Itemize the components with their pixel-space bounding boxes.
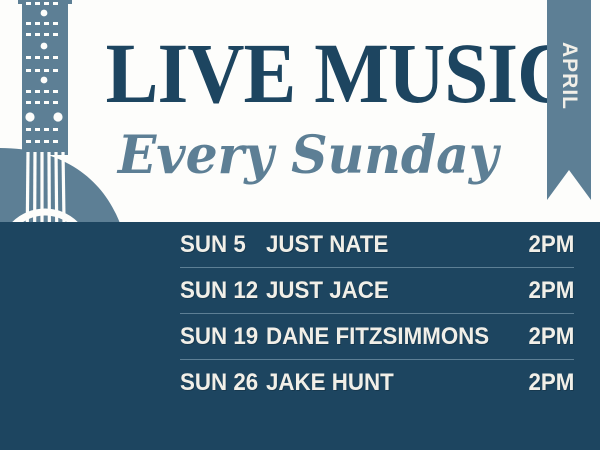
row-time: 2PM (528, 323, 574, 351)
row-act: JUST JACE (266, 277, 507, 305)
row-date: SUN 19 (180, 323, 260, 351)
row-act: JAKE HUNT (266, 369, 507, 397)
poster-header: LIVE MUSIC Every Sunday (0, 0, 600, 222)
row-act: DANE FITZSIMMONS (266, 323, 507, 351)
live-music-poster: LIVE MUSIC Every Sunday APRIL SUN 5 JUST… (0, 0, 600, 450)
page-subtitle: Every Sunday (95, 124, 522, 188)
table-row: SUN 19 DANE FITZSIMMONS 2PM (180, 313, 574, 359)
month-ribbon: APRIL (547, 0, 591, 200)
row-time: 2PM (528, 231, 574, 259)
table-row: SUN 26 JAKE HUNT 2PM (180, 359, 574, 405)
row-date: SUN 12 (180, 277, 260, 305)
table-row: SUN 5 JUST NATE 2PM (180, 222, 574, 267)
row-date: SUN 5 (180, 231, 260, 259)
table-row: SUN 12 JUST JACE 2PM (180, 267, 574, 313)
row-time: 2PM (528, 369, 574, 397)
ribbon-point-icon (547, 170, 591, 200)
row-time: 2PM (528, 277, 574, 305)
page-title: LIVE MUSIC (106, 26, 511, 120)
row-act: JUST NATE (266, 231, 507, 259)
month-label: APRIL (557, 6, 581, 146)
schedule-list: SUN 5 JUST NATE 2PM SUN 12 JUST JACE 2PM… (180, 222, 574, 450)
row-date: SUN 26 (180, 369, 260, 397)
